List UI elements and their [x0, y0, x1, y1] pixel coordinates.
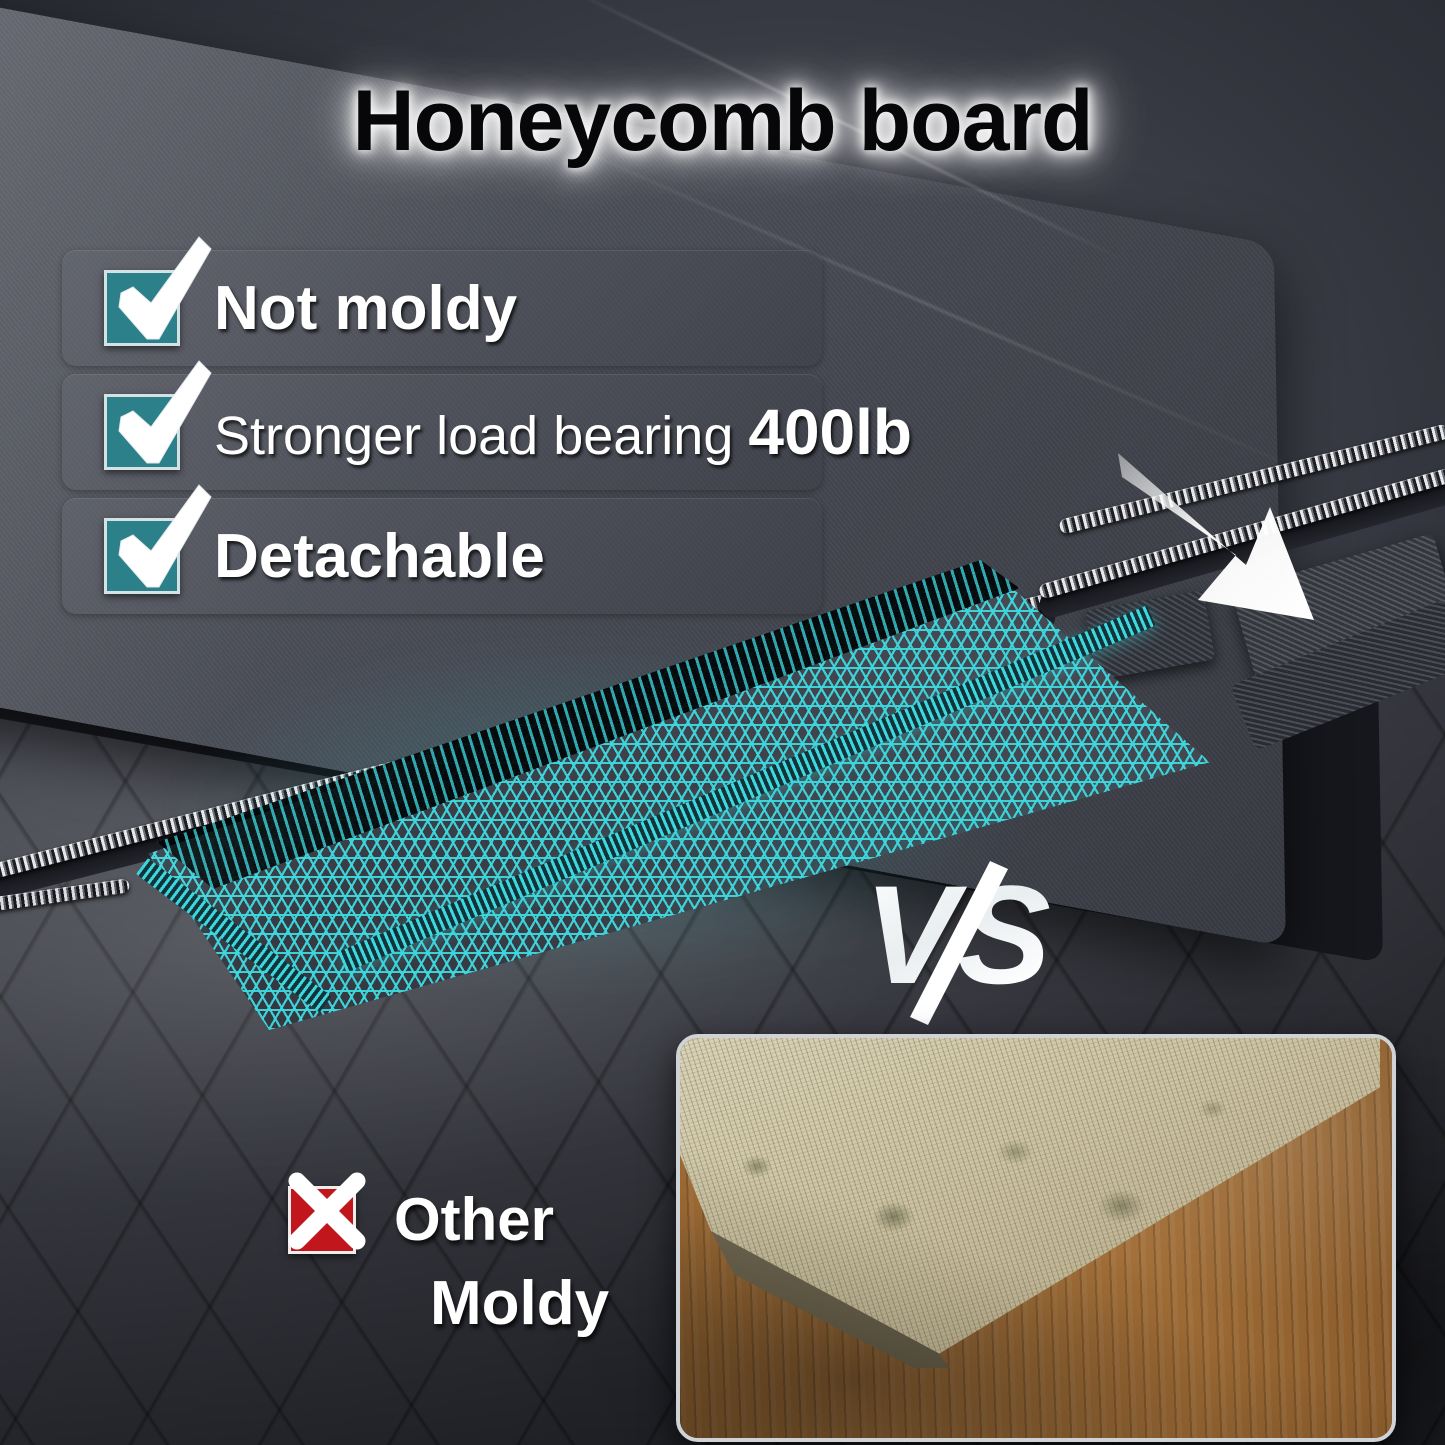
- feature-label-load-bearing: Stronger load bearing 400lb: [214, 395, 912, 469]
- inset-vignette: [680, 1038, 1392, 1438]
- feature-row-detachable[interactable]: Detachable: [62, 498, 822, 614]
- checkbox-load-bearing[interactable]: [104, 394, 180, 470]
- feature-label-detachable: Detachable: [214, 521, 545, 592]
- feature-label-not-moldy: Not moldy: [214, 273, 517, 344]
- checkmark-icon: [103, 477, 223, 597]
- feature-text-strong: 400lb: [748, 396, 912, 468]
- arrow-down-right-icon: [1118, 415, 1368, 645]
- moldy-board-photo: [676, 1034, 1396, 1442]
- cross-icon: [275, 1165, 379, 1269]
- checkbox-not-moldy[interactable]: [104, 270, 180, 346]
- moldy-label: Moldy: [430, 1268, 708, 1339]
- feature-text-strong: Not moldy: [214, 274, 517, 343]
- cross-box[interactable]: [288, 1186, 356, 1254]
- feature-row-load-bearing[interactable]: Stronger load bearing 400lb: [62, 374, 822, 490]
- feature-row-not-moldy[interactable]: Not moldy: [62, 250, 822, 366]
- other-label-row: Other: [288, 1185, 708, 1254]
- checkbox-detachable[interactable]: [104, 518, 180, 594]
- versus-badge: VS: [862, 855, 1052, 1030]
- other-label: Other: [394, 1185, 554, 1254]
- checkmark-icon: [103, 353, 223, 473]
- product-infographic: Honeycomb board Not moldy Stronger load …: [0, 0, 1445, 1445]
- other-comparison-block: Other Moldy: [288, 1185, 708, 1339]
- feature-list: Not moldy Stronger load bearing 400lb D: [62, 250, 822, 622]
- page-title: Honeycomb board: [0, 72, 1445, 171]
- feature-text-strong: Detachable: [214, 522, 545, 591]
- feature-text-regular: Stronger load bearing: [214, 406, 748, 466]
